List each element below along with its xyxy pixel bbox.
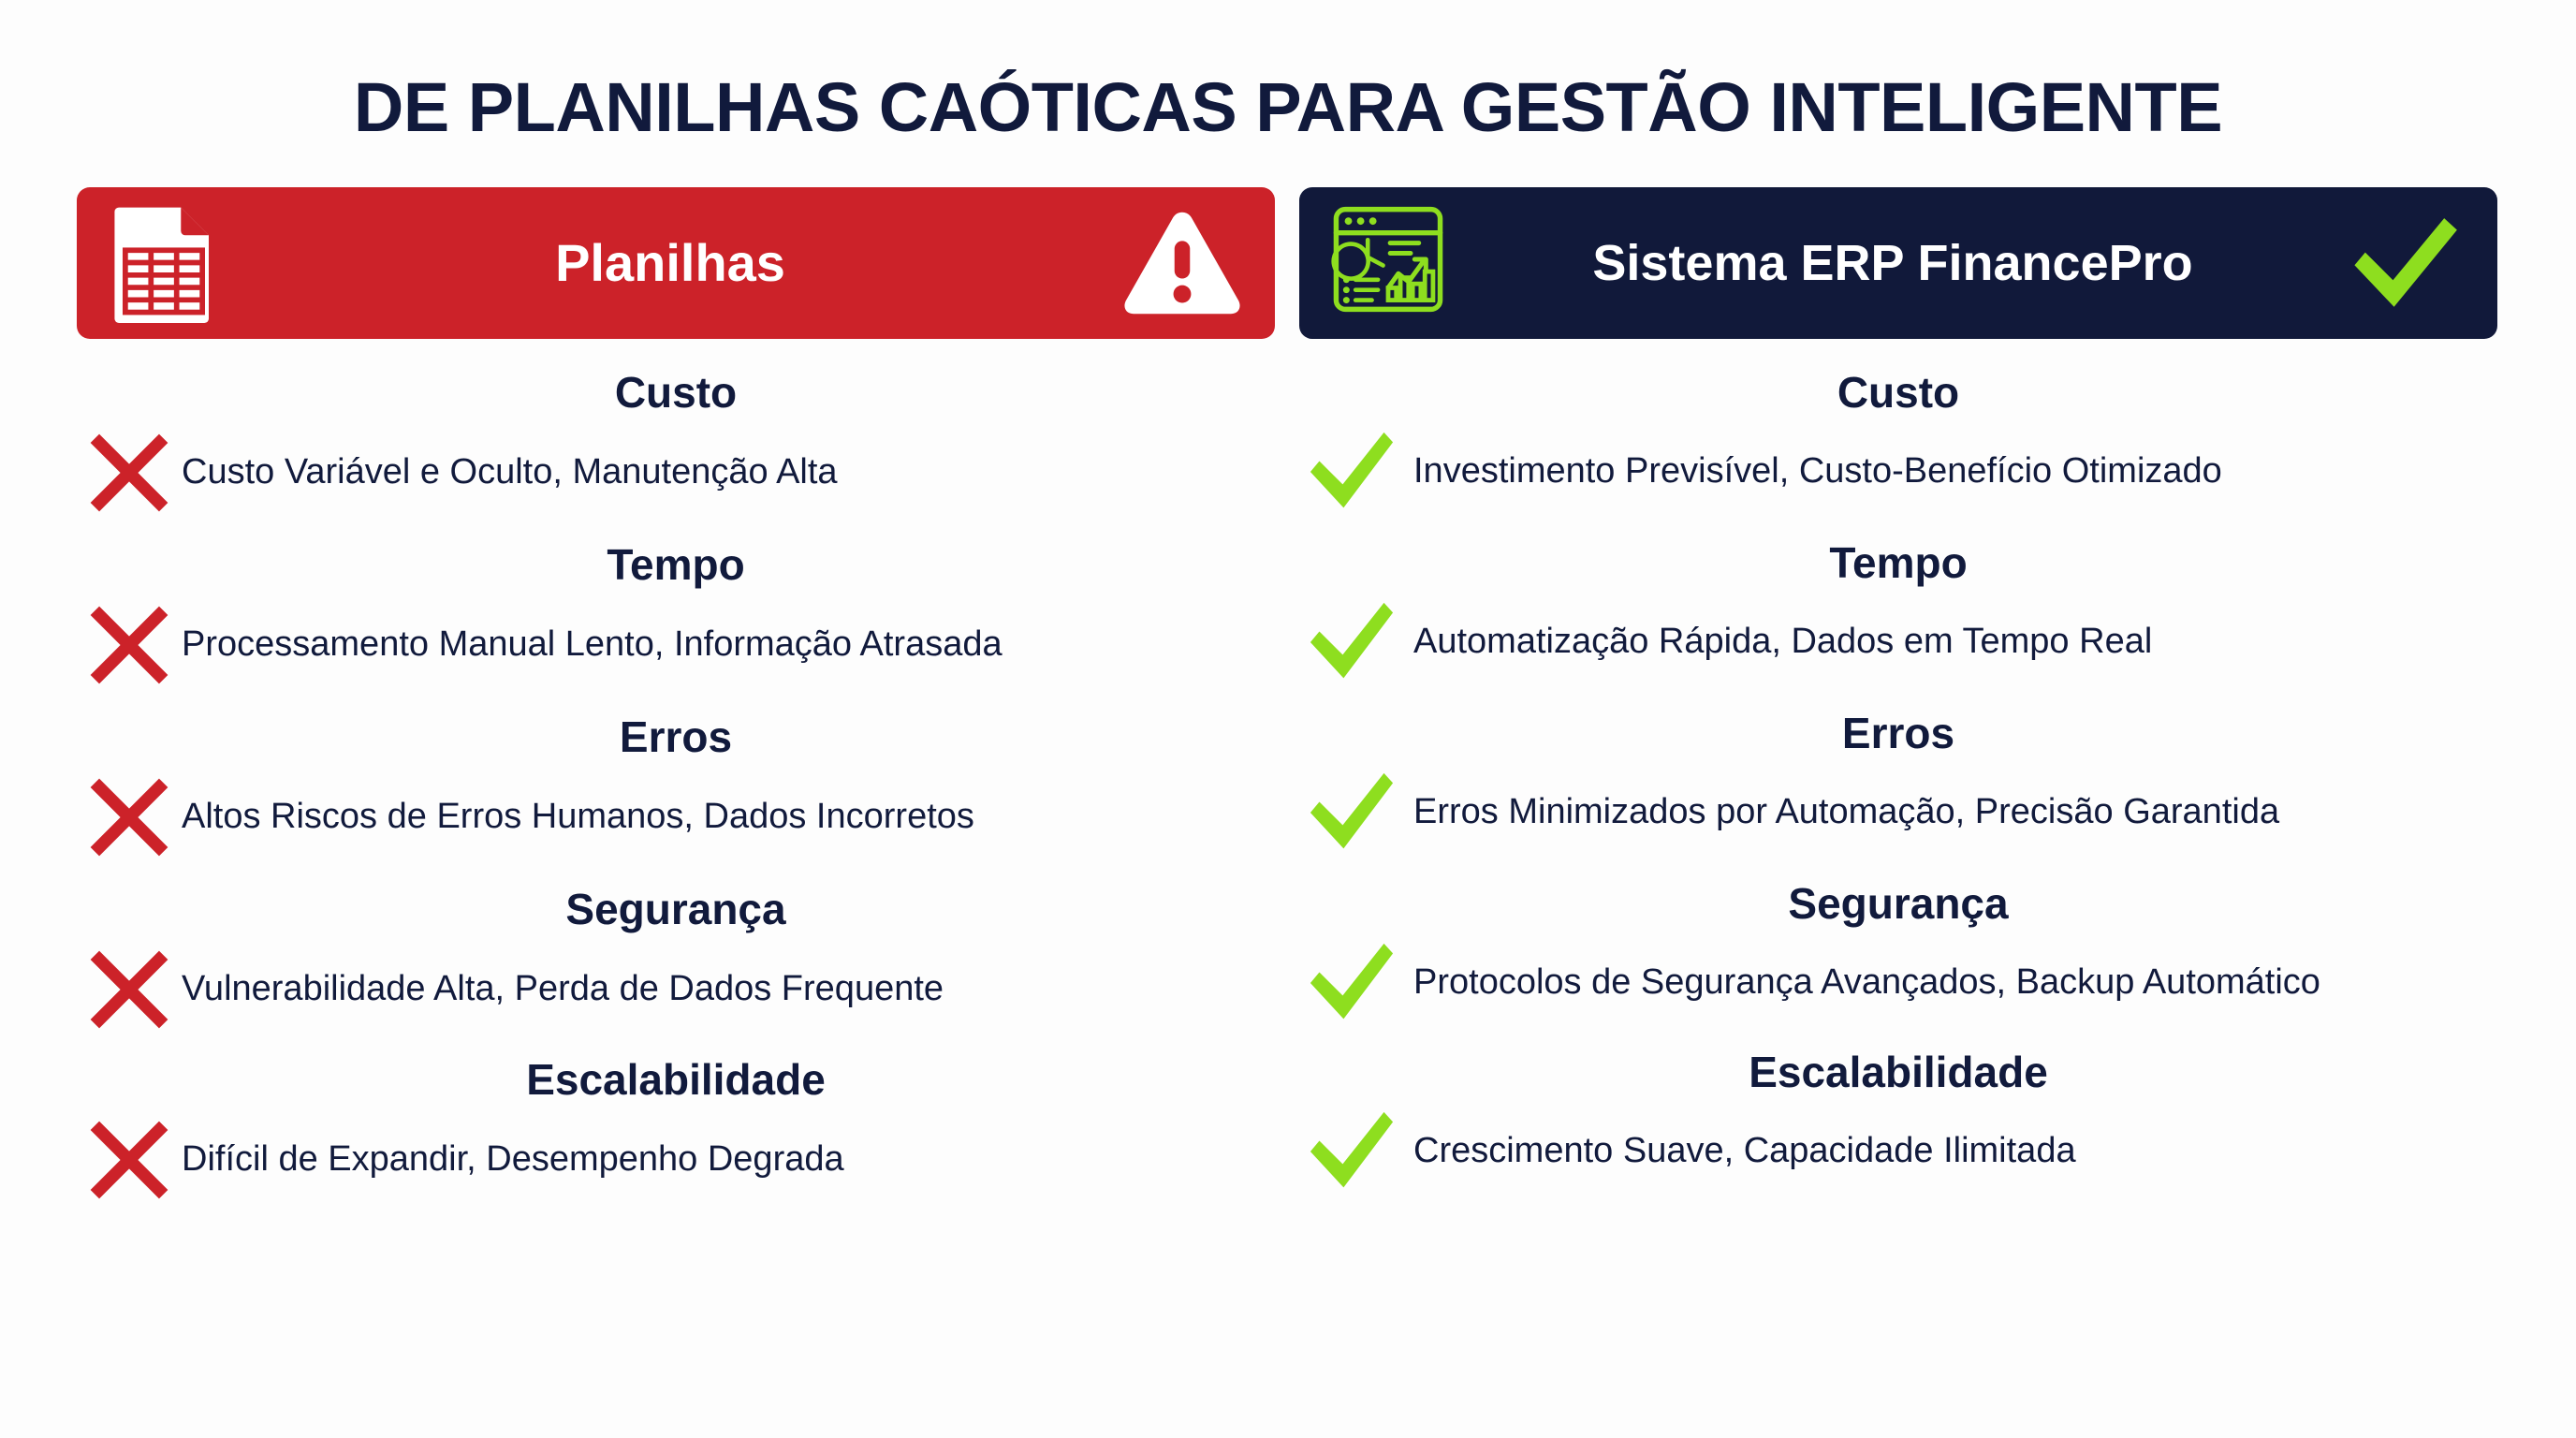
row-heading: Custo [1299,371,2497,414]
row-heading: Tempo [1299,541,2497,584]
row-seguranca: Segurança Vulnerabilidade Alta, Perda de… [77,888,1275,1034]
column-spreadsheets: Planilhas Custo [77,187,1275,1210]
red-cross-icon [77,429,182,517]
row-custo: Custo Investimento Previsível, Custo-Ben… [1299,371,2497,515]
row-text: Protocolos de Segurança Avançados, Backu… [1404,960,2339,1005]
spreadsheets-header-label: Planilhas [219,237,1121,289]
red-cross-icon [77,773,182,861]
spreadsheets-header-bar: Planilhas [77,187,1275,339]
row-body: Difícil de Expandir, Desempenho Degrada [77,1116,1275,1204]
warning-triangle-icon [1121,206,1243,320]
row-text: Difícil de Expandir, Desempenho Degrada [182,1137,863,1182]
row-tempo: Tempo Processamento Manual Lento, Inform… [77,543,1275,689]
row-text: Altos Riscos de Erros Humanos, Dados Inc… [182,794,993,840]
row-seguranca: Segurança Protocolos de Segurança Avança… [1299,882,2497,1026]
row-heading: Tempo [77,543,1275,586]
green-check-icon [1299,599,1404,685]
red-cross-icon [77,1116,182,1204]
page-title: DE PLANILHAS CAÓTICAS PARA GESTÃO INTELI… [0,0,2576,142]
row-body: Automatização Rápida, Dados em Tempo Rea… [1299,599,2497,685]
row-escalabilidade: Escalabilidade Crescimento Suave, Capaci… [1299,1050,2497,1195]
row-body: Altos Riscos de Erros Humanos, Dados Inc… [77,773,1275,861]
row-text: Crescimento Suave, Capacidade Ilimitada [1404,1128,2095,1174]
erp-header-label: Sistema ERP FinancePro [1442,238,2344,288]
green-check-icon [2344,206,2466,320]
row-body: Custo Variável e Oculto, Manutenção Alta [77,429,1275,517]
red-cross-icon [77,601,182,689]
row-heading: Erros [77,715,1275,758]
red-cross-icon [77,946,182,1034]
row-body: Investimento Previsível, Custo-Benefício… [1299,429,2497,515]
row-body: Crescimento Suave, Capacidade Ilimitada [1299,1108,2497,1195]
row-heading: Escalabilidade [1299,1050,2497,1093]
row-heading: Erros [1299,712,2497,755]
row-heading: Segurança [1299,882,2497,925]
comparison-infographic: DE PLANILHAS CAÓTICAS PARA GESTÃO INTELI… [0,0,2576,1438]
row-erros: Erros Altos Riscos de Erros Humanos, Dad… [77,715,1275,861]
green-check-icon [1299,1108,1404,1195]
spreadsheet-document-icon [109,203,219,323]
row-custo: Custo Custo Variável e Oculto, Manutençã… [77,371,1275,517]
erp-rows: Custo Investimento Previsível, Custo-Ben… [1299,371,2497,1195]
green-check-icon [1299,940,1404,1026]
row-body: Processamento Manual Lento, Informação A… [77,601,1275,689]
row-heading: Segurança [77,888,1275,931]
erp-header-bar: Sistema ERP FinancePro [1299,187,2497,339]
row-body: Protocolos de Segurança Avançados, Backu… [1299,940,2497,1026]
row-body: Vulnerabilidade Alta, Perda de Dados Fre… [77,946,1275,1034]
row-tempo: Tempo Automatização Rápida, Dados em Tem… [1299,541,2497,685]
column-erp-system: Sistema ERP FinancePro Custo [1299,187,2497,1210]
green-check-icon [1299,770,1404,856]
row-text: Automatização Rápida, Dados em Tempo Rea… [1404,619,2171,665]
green-check-icon [1299,429,1404,515]
row-escalabilidade: Escalabilidade Difícil de Expandir, Dese… [77,1058,1275,1204]
row-text: Erros Minimizados por Automação, Precisã… [1404,789,2298,835]
row-text: Processamento Manual Lento, Informação A… [182,622,1021,668]
dashboard-analytics-icon [1331,203,1442,323]
row-heading: Custo [77,371,1275,414]
row-body: Erros Minimizados por Automação, Precisã… [1299,770,2497,856]
row-text: Custo Variável e Oculto, Manutenção Alta [182,449,856,495]
row-text: Vulnerabilidade Alta, Perda de Dados Fre… [182,966,962,1012]
comparison-columns: Planilhas Custo [0,187,2576,1210]
row-erros: Erros Erros Minimizados por Automação, P… [1299,712,2497,856]
spreadsheets-rows: Custo Custo Variável e Oculto, Manutençã… [77,371,1275,1204]
row-text: Investimento Previsível, Custo-Benefício… [1404,448,2241,494]
row-heading: Escalabilidade [77,1058,1275,1101]
